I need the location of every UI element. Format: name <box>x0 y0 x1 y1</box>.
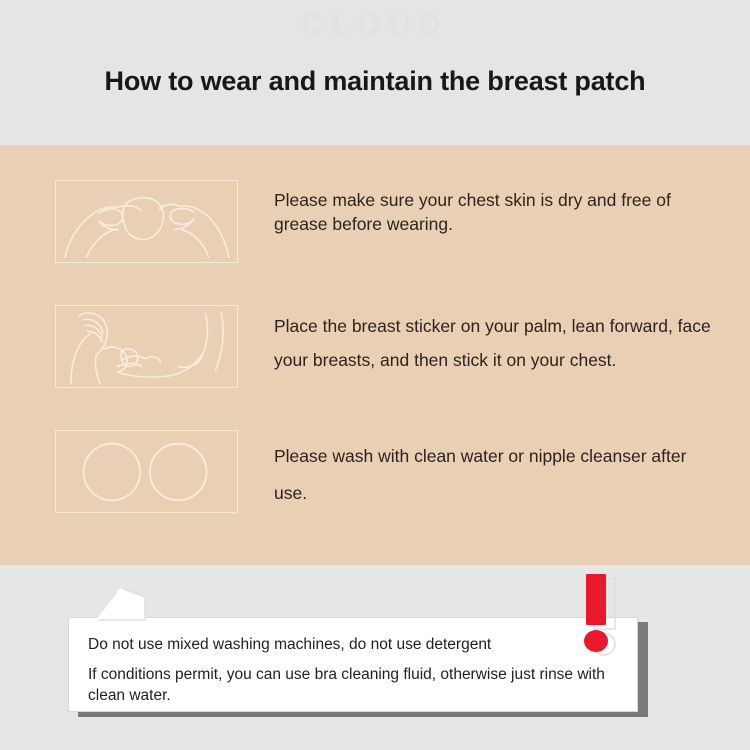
watermark-text: CLOUD <box>0 8 750 42</box>
warning-line-2: If conditions permit, you can use bra cl… <box>88 664 608 707</box>
header-band: CLOUD How to wear and maintain the breas… <box>0 0 750 145</box>
two-hands-holding-patch-icon <box>56 181 237 262</box>
step-3-illustration-frame <box>55 430 238 513</box>
warning-text: Do not use mixed washing machines, do no… <box>88 636 608 707</box>
step-2-illustration-frame <box>55 305 238 388</box>
warning-line-1: Do not use mixed washing machines, do no… <box>88 636 608 654</box>
warning-section: Do not use mixed washing machines, do no… <box>0 565 750 750</box>
page-title: How to wear and maintain the breast patc… <box>0 66 750 97</box>
two-round-patches-icon <box>56 431 237 512</box>
step-3-text: Please wash with clean water or nipple c… <box>274 438 714 512</box>
callout-tail <box>95 587 147 621</box>
instruction-graphic: CLOUD How to wear and maintain the breas… <box>0 0 750 750</box>
step-1-illustration-frame <box>55 180 238 263</box>
torso-applying-patch-icon <box>56 306 237 387</box>
step-1-text: Please make sure your chest skin is dry … <box>274 188 714 236</box>
step-2-text: Place the breast sticker on your palm, l… <box>274 310 714 377</box>
steps-section: Please make sure your chest skin is dry … <box>0 145 750 565</box>
